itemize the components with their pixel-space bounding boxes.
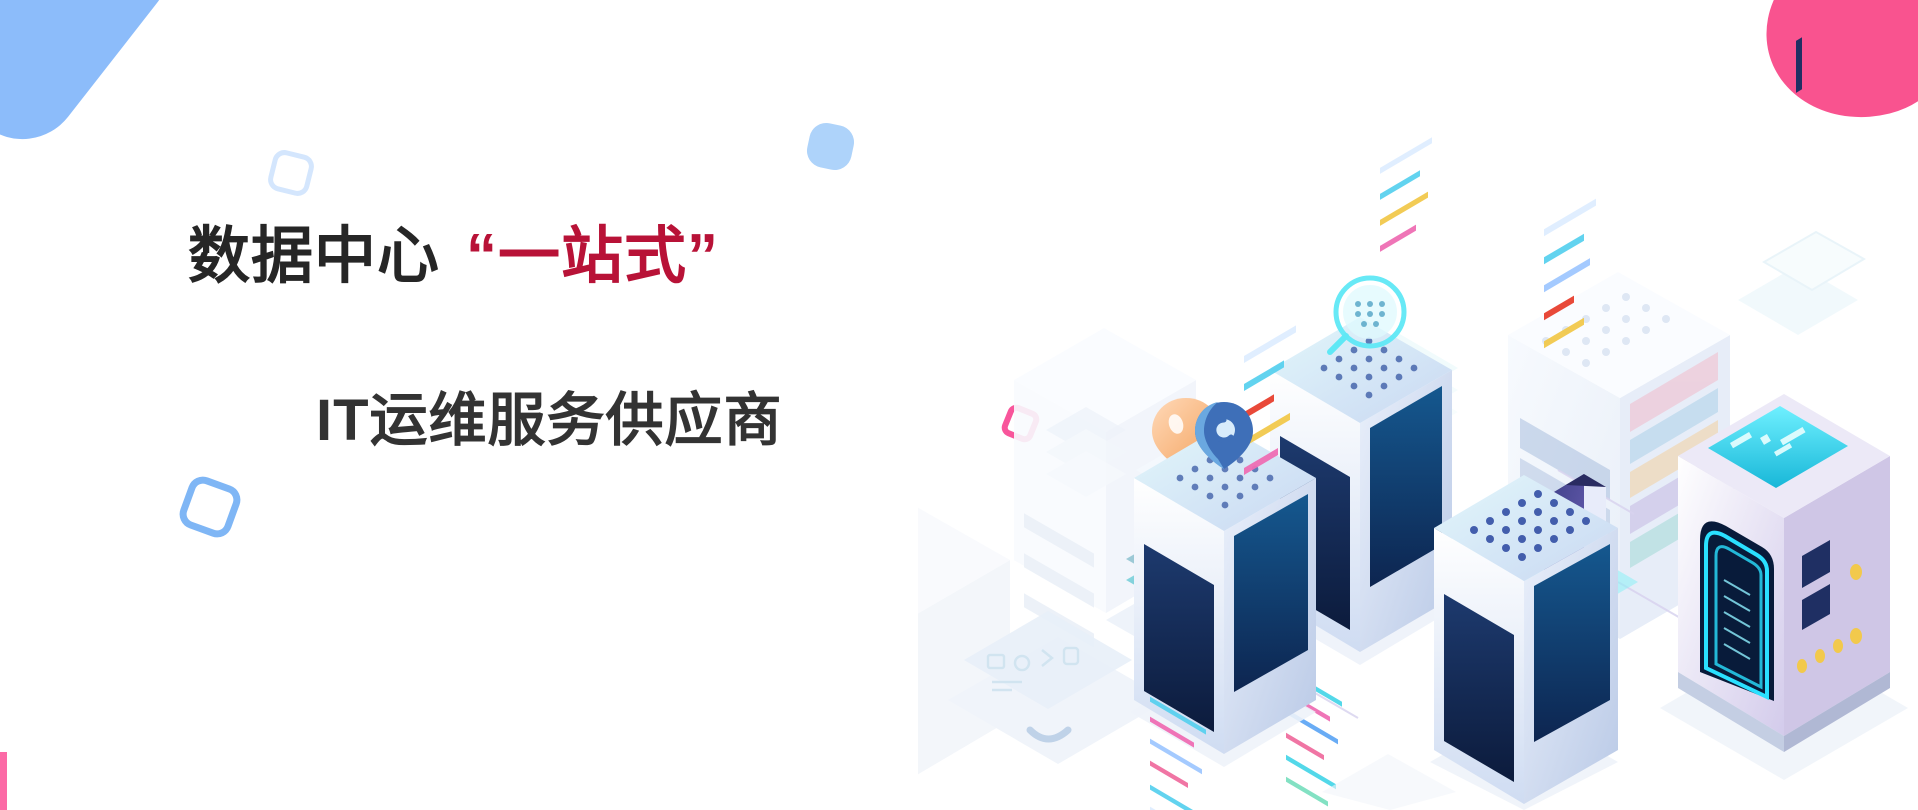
ring-blue-large-icon xyxy=(175,472,244,541)
server-rack-background xyxy=(1508,272,1730,639)
blob-top-right-icon xyxy=(1748,0,1918,138)
ring-blue-small-icon xyxy=(266,148,317,199)
bar-bottom-left-icon xyxy=(0,752,7,810)
ghost-rack xyxy=(918,502,1010,779)
faint-teal-stack xyxy=(1338,333,1458,447)
hero-banner: 数据中心“一站式” IT运维服务供应商 xyxy=(0,0,1918,810)
headline-line-1-black: 数据中心 xyxy=(188,222,440,291)
server-rack-right xyxy=(1430,199,1618,810)
orange-spiral-icon xyxy=(1539,631,1624,724)
headline-line-2: IT运维服务供应商 xyxy=(316,392,1088,450)
blob-top-left-icon xyxy=(0,0,192,162)
dot-blue-icon xyxy=(804,120,857,173)
faint-platform-bottom xyxy=(1322,754,1456,810)
headline-line-1-red: “一站式” xyxy=(466,222,719,291)
connection-lines xyxy=(1168,470,1738,718)
tablet-wifi-icon xyxy=(1518,474,1638,617)
faint-laptop xyxy=(1738,232,1864,335)
server-rack-center xyxy=(1266,137,1452,806)
monitor-left xyxy=(948,611,1168,764)
blue-pin-icon xyxy=(1195,402,1253,469)
monitor-right xyxy=(1106,522,1274,668)
cooling-cabinet xyxy=(1660,37,1908,780)
cyan-dome-icon xyxy=(1330,278,1404,352)
headline-line-1: 数据中心“一站式” xyxy=(188,226,1088,288)
location-pin-icon xyxy=(1136,398,1236,499)
headline-block: 数据中心“一站式” IT运维服务供应商 xyxy=(188,226,1088,450)
server-rack-left xyxy=(1130,325,1316,810)
